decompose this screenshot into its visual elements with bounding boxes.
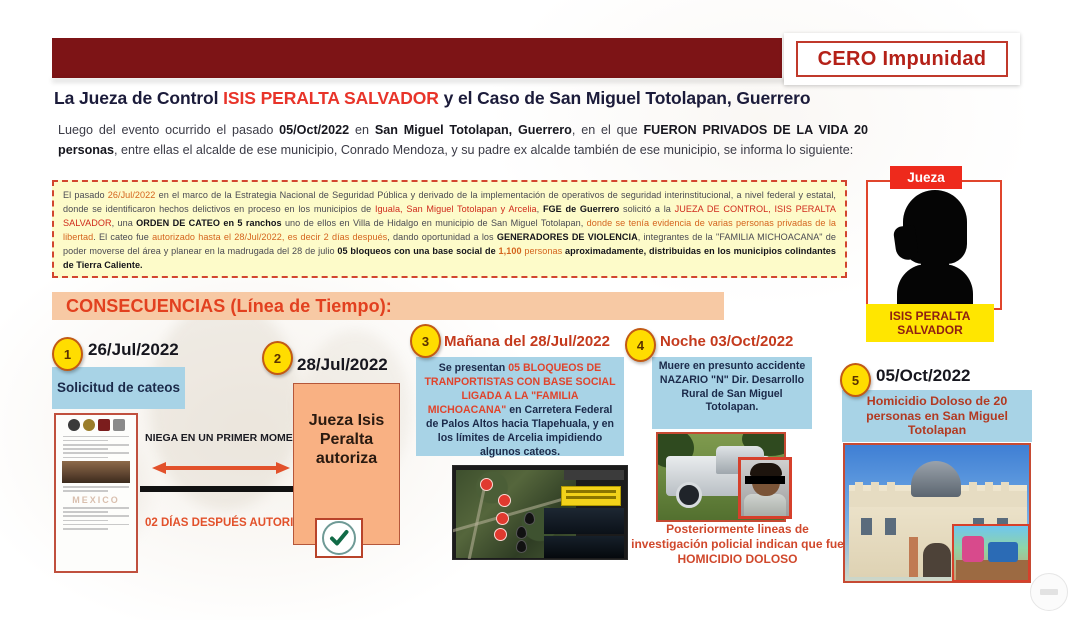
document-text-line bbox=[63, 528, 108, 530]
document-text-line bbox=[63, 452, 129, 454]
callout-bloqueos: 05 bloqueos con una base social de bbox=[337, 246, 498, 256]
intro-text-b: en bbox=[349, 123, 375, 137]
nazario-portrait-censored bbox=[738, 457, 792, 519]
seal-icon bbox=[98, 419, 110, 431]
map-photo-pane bbox=[544, 536, 624, 558]
timeline-connector-line bbox=[140, 486, 300, 492]
jueza-tab-label: Jueza bbox=[907, 170, 945, 185]
callout-s1: El pasado bbox=[63, 190, 108, 200]
document-text-line bbox=[63, 490, 108, 492]
timeline-box-4: Muere en presunto accidente NAZARIO "N" … bbox=[652, 357, 812, 429]
timeline-badge-2: 2 bbox=[262, 341, 293, 375]
building-crenellation bbox=[887, 482, 895, 491]
cero-impunidad-frame: CERO Impunidad bbox=[796, 41, 1008, 77]
header-bar-shadow bbox=[52, 78, 790, 83]
document-text-line bbox=[63, 440, 108, 442]
building-crenellation bbox=[1001, 482, 1009, 491]
building-crenellation bbox=[871, 482, 879, 491]
callout-date: 26/Jul/2022 bbox=[108, 190, 156, 200]
callout-personas: personas bbox=[522, 246, 563, 256]
page-title-prefix: La Jueza de Control bbox=[54, 88, 223, 108]
callout-places: Iguala, San Miguel Totolapan y Arcelia bbox=[375, 204, 537, 214]
timeline-box-2-text: Jueza Isis Peralta autoriza bbox=[294, 412, 399, 469]
callout-generadores: GENERADORES DE VIOLENCIA bbox=[497, 232, 638, 242]
timeline-box-4-text: Muere en presunto accidente NAZARIO "N" … bbox=[657, 360, 807, 415]
building-column bbox=[909, 537, 918, 577]
arrow-bottom-label: 02 DÍAS DESPUÉS AUTORIZA bbox=[145, 517, 297, 531]
jueza-name-plate: ISIS PERALTA SALVADOR bbox=[866, 304, 994, 342]
timeline-box-5: Homicidio Doloso de 20 personas en San M… bbox=[842, 390, 1032, 442]
document-text-line bbox=[63, 444, 129, 446]
satellite-map-bloqueos-image bbox=[452, 465, 628, 560]
building-window bbox=[861, 518, 872, 535]
map-pin bbox=[516, 540, 527, 553]
timeline-box-3-text-a: Se presentan bbox=[439, 362, 508, 374]
timeline-box-1-text: Solicitud de cateos bbox=[57, 380, 180, 396]
document-text-line bbox=[63, 515, 129, 517]
intro-place: San Miguel Totolapan, Guerrero bbox=[375, 123, 572, 137]
timeline-date-5: 05/Oct/2022 bbox=[876, 366, 971, 386]
map-pin bbox=[524, 512, 535, 525]
intro-text-c: , en el que bbox=[572, 123, 644, 137]
map-legend-box bbox=[561, 486, 621, 506]
portrait-hair bbox=[750, 463, 782, 476]
callout-s9: , una bbox=[112, 218, 137, 228]
building-entrance bbox=[923, 543, 951, 577]
page-title: La Jueza de Control ISIS PERALTA SALVADO… bbox=[54, 88, 954, 109]
timeline-badge-4: 4 bbox=[625, 328, 656, 362]
seal-icon bbox=[113, 419, 125, 431]
seal-icon bbox=[83, 419, 95, 431]
orden-de-cateo-document-image: MEXICO bbox=[54, 413, 138, 573]
timeline-date-2: 28/Jul/2022 bbox=[297, 355, 388, 375]
consequences-band: CONSECUENCIAS (Línea de Tiempo): bbox=[52, 292, 724, 320]
consequences-title: CONSECUENCIAS (Línea de Tiempo): bbox=[52, 296, 392, 317]
crime-scene-inset-photo bbox=[952, 524, 1030, 582]
building-dome bbox=[911, 461, 961, 497]
document-text-line bbox=[63, 486, 129, 488]
document-text-line bbox=[63, 524, 129, 526]
truck-wheel bbox=[676, 482, 702, 508]
building-crenellation bbox=[855, 482, 863, 491]
jueza-tab: Jueza bbox=[890, 166, 962, 189]
arrow-top-label: NIEGA EN UN PRIMER MOMENTO bbox=[145, 432, 297, 445]
timeline-box-1: Solicitud de cateos bbox=[52, 367, 185, 409]
inset-vehicle bbox=[988, 542, 1018, 562]
callout-paragraph: El pasado 26/Jul/2022 en el marco de la … bbox=[63, 188, 836, 273]
timeline-box-3: Se presentan 05 BLOQUEOS DE TRANPORTISTA… bbox=[416, 357, 624, 456]
building-crenellation bbox=[985, 482, 993, 491]
document-text-line bbox=[63, 507, 129, 509]
cero-impunidad-label: CERO Impunidad bbox=[818, 48, 987, 71]
intro-text-a: Luego del evento ocurrido el pasado bbox=[58, 123, 279, 137]
inset-ground bbox=[956, 560, 1030, 580]
timeline-box-5-text: Homicidio Doloso de 20 personas en San M… bbox=[848, 394, 1026, 439]
jueza-silhouette-portrait bbox=[895, 190, 975, 302]
map-title-bar bbox=[564, 470, 624, 480]
cero-impunidad-badge: CERO Impunidad bbox=[784, 33, 1020, 85]
page-title-highlight: ISIS PERALTA SALVADOR bbox=[223, 88, 439, 108]
timeline-badge-3: 3 bbox=[410, 324, 441, 358]
document-text-line bbox=[63, 520, 108, 522]
inset-figure bbox=[962, 536, 984, 562]
intro-paragraph: Luego del evento ocurrido el pasado 05/O… bbox=[58, 120, 868, 161]
document-text-line bbox=[63, 511, 108, 513]
callout-s13: . El cateo fue bbox=[93, 232, 152, 242]
map-pin bbox=[516, 526, 527, 539]
intro-text-d: , entre ellas el alcalde de ese municipi… bbox=[114, 143, 853, 157]
seal-icon bbox=[68, 419, 80, 431]
header-bar bbox=[52, 38, 782, 78]
highlight-callout-box: El pasado 26/Jul/2022 en el marco de la … bbox=[52, 180, 847, 278]
callout-orden-cateo: ORDEN DE CATEO en 5 ranchos bbox=[136, 218, 281, 228]
callout-fge: FGE de Guerrero bbox=[543, 204, 619, 214]
document-text-line bbox=[63, 436, 129, 438]
double-arrow-icon bbox=[152, 462, 290, 474]
map-marker bbox=[496, 512, 509, 525]
timeline-date-4: Noche 03/Oct/2022 bbox=[660, 333, 793, 350]
document-group-photo bbox=[62, 461, 130, 483]
timeline-date-1: 26/Jul/2022 bbox=[88, 340, 179, 360]
silhouette-hair-lock bbox=[893, 225, 920, 262]
slide-canvas: CERO Impunidad La Jueza de Control ISIS … bbox=[0, 0, 1075, 620]
map-marker bbox=[480, 478, 493, 491]
timeline-badge-5: 5 bbox=[840, 363, 871, 397]
silhouette-shoulders bbox=[897, 264, 973, 304]
portrait-torso bbox=[744, 494, 786, 516]
map-marker bbox=[494, 528, 507, 541]
timeline-box-3-text: Se presentan 05 BLOQUEOS DE TRANPORTISTA… bbox=[422, 361, 618, 460]
callout-s11: uno de ellos en Villa de Hidalgo en muni… bbox=[282, 218, 587, 228]
jueza-name-label: ISIS PERALTA SALVADOR bbox=[866, 309, 994, 338]
timeline-badge-1: 1 bbox=[52, 337, 83, 371]
map-marker bbox=[498, 494, 511, 507]
callout-autorizado: autorizado hasta el 28/Jul/2022, es deci… bbox=[152, 232, 387, 242]
intro-date: 05/Oct/2022 bbox=[279, 123, 349, 137]
document-text-line bbox=[63, 448, 108, 450]
building-window bbox=[885, 518, 896, 535]
check-circle-icon bbox=[322, 521, 356, 555]
timeline-date-3: Mañana del 28/Jul/2022 bbox=[444, 333, 610, 350]
corner-watermark bbox=[1030, 573, 1068, 611]
callout-s7: solicitó a la bbox=[619, 204, 674, 214]
authorization-check-frame bbox=[315, 518, 363, 558]
document-mexico-watermark: MEXICO bbox=[56, 495, 136, 505]
censor-bar-icon bbox=[745, 476, 785, 484]
building-crenellation bbox=[969, 482, 977, 491]
callout-base-social-number: 1,100 bbox=[499, 246, 522, 256]
timeline-caption-4: Posteriormente lineas de investigación p… bbox=[630, 522, 845, 567]
document-text-line bbox=[63, 457, 108, 459]
map-photo-pane bbox=[544, 508, 624, 534]
callout-s15: , dando oportunidad a los bbox=[387, 232, 497, 242]
page-title-suffix: y el Caso de San Miguel Totolapan, Guerr… bbox=[439, 88, 811, 108]
document-seals bbox=[56, 415, 136, 433]
